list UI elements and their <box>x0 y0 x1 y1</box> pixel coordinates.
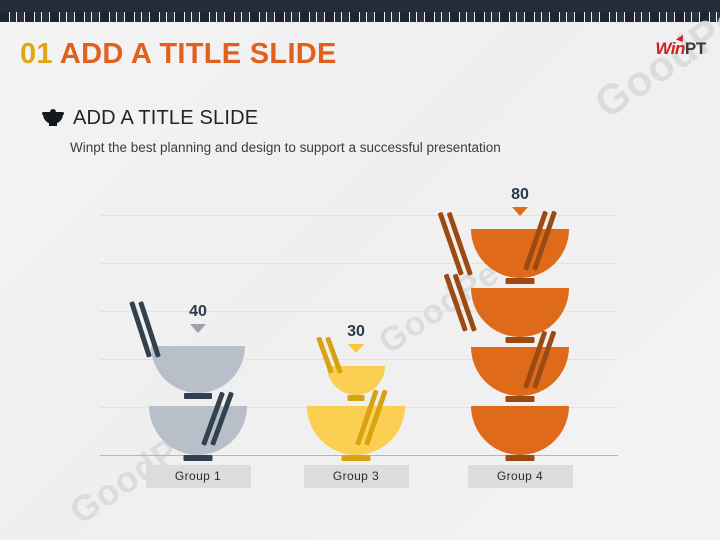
bowl-body <box>471 347 569 396</box>
bowl-body <box>471 229 569 278</box>
bowl-unit <box>471 229 569 278</box>
x-axis-label: Group 4 <box>468 465 573 488</box>
bowl-foot <box>506 455 535 461</box>
bowl-unit <box>471 288 569 337</box>
bowl-body <box>327 366 385 395</box>
bowl-foot <box>342 455 371 461</box>
value-marker-triangle <box>190 324 206 333</box>
slide-canvas: GoodPello GoodPello GoodPello 01ADD A TI… <box>0 0 720 540</box>
bowl-chart: 403080 <box>100 210 618 460</box>
winpt-logo: WinPT <box>655 40 706 57</box>
value-label: 40 <box>168 303 228 321</box>
x-axis-label: Group 1 <box>146 465 251 488</box>
chopsticks-icon <box>147 355 149 357</box>
title-label: ADD A TITLE SLIDE <box>60 38 337 70</box>
value-marker-triangle <box>348 344 364 353</box>
chart-group: 80 <box>100 454 618 455</box>
title-number: 01 <box>20 38 53 70</box>
bowl-unit <box>149 406 247 455</box>
bowl-foot <box>184 455 213 461</box>
section-heading-label: ADD A TITLE SLIDE <box>73 107 258 130</box>
bowl-body <box>151 346 245 393</box>
bowl-foot <box>184 393 212 399</box>
chopsticks-icon <box>523 386 525 388</box>
section-description: Winpt the best planning and design to su… <box>70 140 501 155</box>
bowl-unit <box>471 347 569 396</box>
bowl-foot <box>506 337 535 343</box>
bowl-foot <box>506 396 535 402</box>
bowl-foot <box>506 278 535 284</box>
chopsticks-icon <box>329 371 331 373</box>
logo-pt-text: PT <box>685 39 706 58</box>
bowl-unit <box>471 406 569 455</box>
logo-win-text: Win <box>655 39 685 58</box>
chopsticks-icon <box>355 443 357 445</box>
page-title: 01ADD A TITLE SLIDE <box>20 38 337 71</box>
chopsticks-icon <box>463 329 465 331</box>
bowl-unit <box>151 346 245 393</box>
top-decoration-bar <box>0 0 720 22</box>
bowl-foot <box>348 395 365 401</box>
rice-bowl-icon <box>42 109 64 128</box>
barcode-top-cap <box>0 0 720 12</box>
value-marker-triangle <box>512 207 528 216</box>
value-label: 30 <box>326 323 386 341</box>
chopsticks-icon <box>523 268 525 270</box>
bowl-body <box>471 288 569 337</box>
chopsticks-icon <box>201 443 203 445</box>
section-heading: ADD A TITLE SLIDE <box>42 107 258 130</box>
bowl-body <box>149 406 247 455</box>
value-label: 80 <box>490 186 550 204</box>
bowl-unit <box>307 406 405 455</box>
bowl-body <box>471 406 569 455</box>
bowl-body <box>307 406 405 455</box>
bowl-unit <box>327 366 385 395</box>
x-axis-label: Group 3 <box>304 465 409 488</box>
chopsticks-icon <box>459 273 461 275</box>
